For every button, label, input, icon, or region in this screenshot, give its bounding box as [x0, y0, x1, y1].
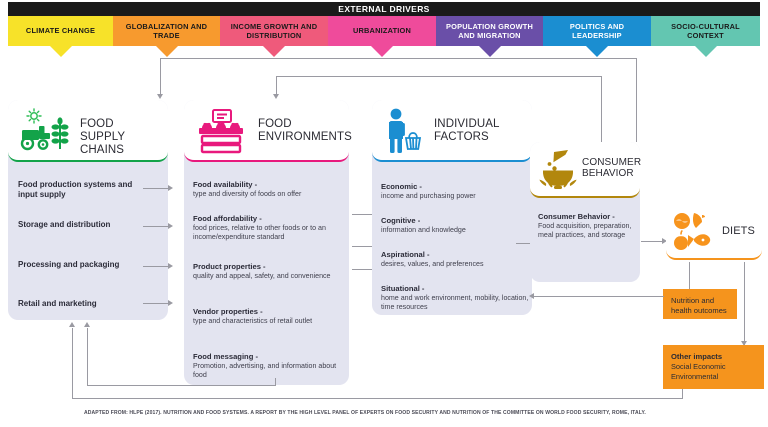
external-driver-label: INCOME GROWTH AND DISTRIBUTION [222, 22, 326, 41]
panel-header-food-environments: FOOD ENVIRONMENTS [184, 100, 349, 162]
connector-second-bus [276, 76, 602, 77]
connector-cb-to-diets [641, 241, 663, 242]
connector-top-bus [160, 58, 637, 59]
other-impacts-box: Other impacts Social Economic Environmen… [663, 345, 764, 389]
food-environment-item-5: Food messaging -Promotion, advertising, … [193, 352, 343, 381]
supply-chain-item-4: Retail and marketing [18, 299, 148, 309]
food-environment-item-1: Food availability -type and diversity of… [193, 180, 343, 199]
supply-chain-item-3: Processing and packaging [18, 260, 148, 270]
title-line-2: FACTORS [434, 131, 489, 143]
individual-factor-item-3: Aspirational -desires, values, and prefe… [381, 250, 531, 269]
external-driver-label: URBANIZATION [353, 26, 411, 35]
panel-header-food-supply-chains: FOOD SUPPLY CHAINS [8, 100, 168, 162]
nutrition-health-outcomes-box: Nutrition and health outcomes [663, 289, 737, 319]
connector-to-supply-chains [160, 58, 161, 95]
external-driver-4[interactable]: URBANIZATION [328, 16, 436, 46]
individual-factor-item-1: Economic -income and purchasing power [381, 182, 531, 201]
food-environment-term: Food availability - [193, 180, 343, 190]
arrowhead-sc-3 [168, 263, 173, 269]
connector-to-food-environments [276, 76, 277, 95]
driver-arrow-tip [586, 46, 608, 57]
panel-diets: DIETS [666, 204, 762, 260]
external-driver-1[interactable]: CLIMATE CHANGE [8, 16, 113, 46]
connector-sc-4 [143, 303, 169, 304]
supply-chain-item-2: Storage and distribution [18, 220, 148, 230]
external-driver-7[interactable]: SOCIO-CULTURAL CONTEXT [651, 16, 760, 46]
external-drivers-title: EXTERNAL DRIVERS [8, 2, 760, 16]
other-impacts-title: Other impacts [671, 352, 756, 362]
individual-factor-item-2: Cognitive -information and knowledge [381, 216, 531, 235]
food-environment-desc: Promotion, advertising, and information … [193, 362, 343, 381]
food-environment-desc: type and diversity of foods on offer [193, 190, 343, 200]
individual-factor-term: Aspirational - [381, 250, 531, 260]
food-environment-desc: quality and appeal, safety, and convenie… [193, 272, 343, 282]
food-environment-item-2: Food affordability -food prices, relativ… [193, 214, 343, 243]
driver-arrow-tip [50, 46, 72, 57]
foods-basket-icon [672, 211, 720, 258]
title-line-2: BEHAVIOR [582, 168, 634, 179]
title-line-2: ENVIRONMENTS [258, 131, 352, 143]
individual-factor-desc: desires, values, and preferences [381, 260, 531, 270]
external-driver-6[interactable]: POLITICS AND LEADERSHIP [543, 16, 651, 46]
consumer-behavior-desc: Food acquisition, preparation, meal prac… [538, 222, 634, 241]
external-driver-5[interactable]: POPULATION GROWTH AND MIGRATION [436, 16, 543, 46]
food-environment-term: Food affordability - [193, 214, 343, 224]
title-line-1: INDIVIDUAL [434, 118, 500, 130]
external-driver-label: CLIMATE CHANGE [26, 26, 95, 35]
external-driver-label: GLOBALIZATION AND TRADE [115, 22, 218, 41]
individual-factor-desc: information and knowledge [381, 226, 531, 236]
arrowhead-food-environments [273, 94, 279, 99]
arrowhead-sc-4 [168, 300, 173, 306]
arrowhead-sc-1 [168, 185, 173, 191]
diagram-canvas: EXTERNAL DRIVERS CLIMATE CHANGEGLOBALIZA… [0, 0, 768, 427]
connector-loop-long-v-right [682, 389, 683, 399]
panel-title-individual-factors: INDIVIDUAL FACTORS [434, 118, 500, 144]
external-driver-3[interactable]: INCOME GROWTH AND DISTRIBUTION [220, 16, 328, 46]
panel-title-food-supply-chains: FOOD SUPPLY CHAINS [80, 118, 168, 157]
driver-arrow-tip [156, 46, 178, 57]
connector-nutrition-to-situational [533, 296, 664, 297]
arrowhead-loop-long [69, 322, 75, 327]
source-footer: ADAPTED FROM: HLPE (2017). NUTRITION AND… [84, 410, 744, 416]
individual-factor-desc: income and purchasing power [381, 192, 531, 202]
other-impacts-detail: Social Economic Environmental [671, 362, 756, 382]
individual-factor-term: Situational - [381, 284, 531, 294]
arrowhead-supply-chains [157, 94, 163, 99]
driver-arrow-tip [371, 46, 393, 57]
panel-title-food-environments: FOOD ENVIRONMENTS [258, 118, 352, 144]
connector-sc-2 [143, 226, 169, 227]
mortar-pestle-icon [538, 148, 580, 197]
tractor-sun-crop-icon [18, 108, 78, 159]
food-environment-term: Product properties - [193, 262, 343, 272]
panel-title-diets: DIETS [722, 225, 755, 237]
food-environment-item-4: Vendor properties -type and characterist… [193, 307, 343, 326]
food-environment-term: Food messaging - [193, 352, 343, 362]
external-driver-label: POPULATION GROWTH AND MIGRATION [438, 22, 541, 41]
panel-header-consumer-behavior: CONSUMER BEHAVIOR [530, 142, 640, 198]
title-line-1: FOOD [80, 118, 114, 130]
title-line-1: FOOD [258, 118, 292, 130]
panel-title-consumer-behavior: CONSUMER BEHAVIOR [582, 157, 641, 179]
food-environment-desc: food prices, relative to other foods or … [193, 224, 343, 243]
food-environment-term: Vendor properties - [193, 307, 343, 317]
food-environment-item-3: Product properties -quality and appeal, … [193, 262, 343, 281]
individual-factor-item-4: Situational -home and work environment, … [381, 284, 531, 313]
connector-drivers-to-consumer-left [601, 76, 602, 142]
connector-drivers-to-consumer-right [636, 58, 637, 142]
title-line-2: SUPPLY CHAINS [80, 131, 125, 156]
shopper-person-icon [384, 107, 426, 160]
panel-header-individual-factors: INDIVIDUAL FACTORS [372, 100, 532, 162]
connector-loop-long-h [72, 398, 682, 399]
connector-loop-short-v-left [87, 328, 88, 386]
external-driver-label: SOCIO-CULTURAL CONTEXT [653, 22, 758, 41]
consumer-behavior-term: Consumer Behavior - [538, 212, 634, 222]
connector-sc-1 [143, 188, 169, 189]
connector-loop-short-h [87, 385, 276, 386]
external-drivers-row: CLIMATE CHANGEGLOBALIZATION AND TRADEINC… [8, 16, 760, 46]
external-driver-2[interactable]: GLOBALIZATION AND TRADE [113, 16, 220, 46]
individual-factor-term: Cognitive - [381, 216, 531, 226]
driver-arrow-tip [263, 46, 285, 57]
connector-diets-to-other-impacts [744, 262, 745, 346]
supply-chain-item-1: Food production systems and input supply [18, 180, 148, 201]
consumer-behavior-item: Consumer Behavior -Food acquisition, pre… [538, 212, 634, 241]
external-driver-label: POLITICS AND LEADERSHIP [545, 22, 649, 41]
individual-factor-desc: home and work environment, mobility, loc… [381, 294, 531, 313]
driver-arrow-tip [479, 46, 501, 57]
arrowhead-loop-short [84, 322, 90, 327]
food-environment-desc: type and characteristics of retail outle… [193, 317, 343, 327]
arrowhead-sc-2 [168, 223, 173, 229]
arrowhead-situational [529, 293, 534, 299]
title-line-1: CONSUMER [582, 157, 641, 168]
connector-sc-3 [143, 266, 169, 267]
market-stall-icon [196, 108, 250, 159]
individual-factor-term: Economic - [381, 182, 531, 192]
driver-arrow-tip [695, 46, 717, 57]
connector-loop-long-v-left [72, 328, 73, 399]
nutrition-health-outcomes-label: Nutrition and health outcomes [671, 296, 729, 317]
